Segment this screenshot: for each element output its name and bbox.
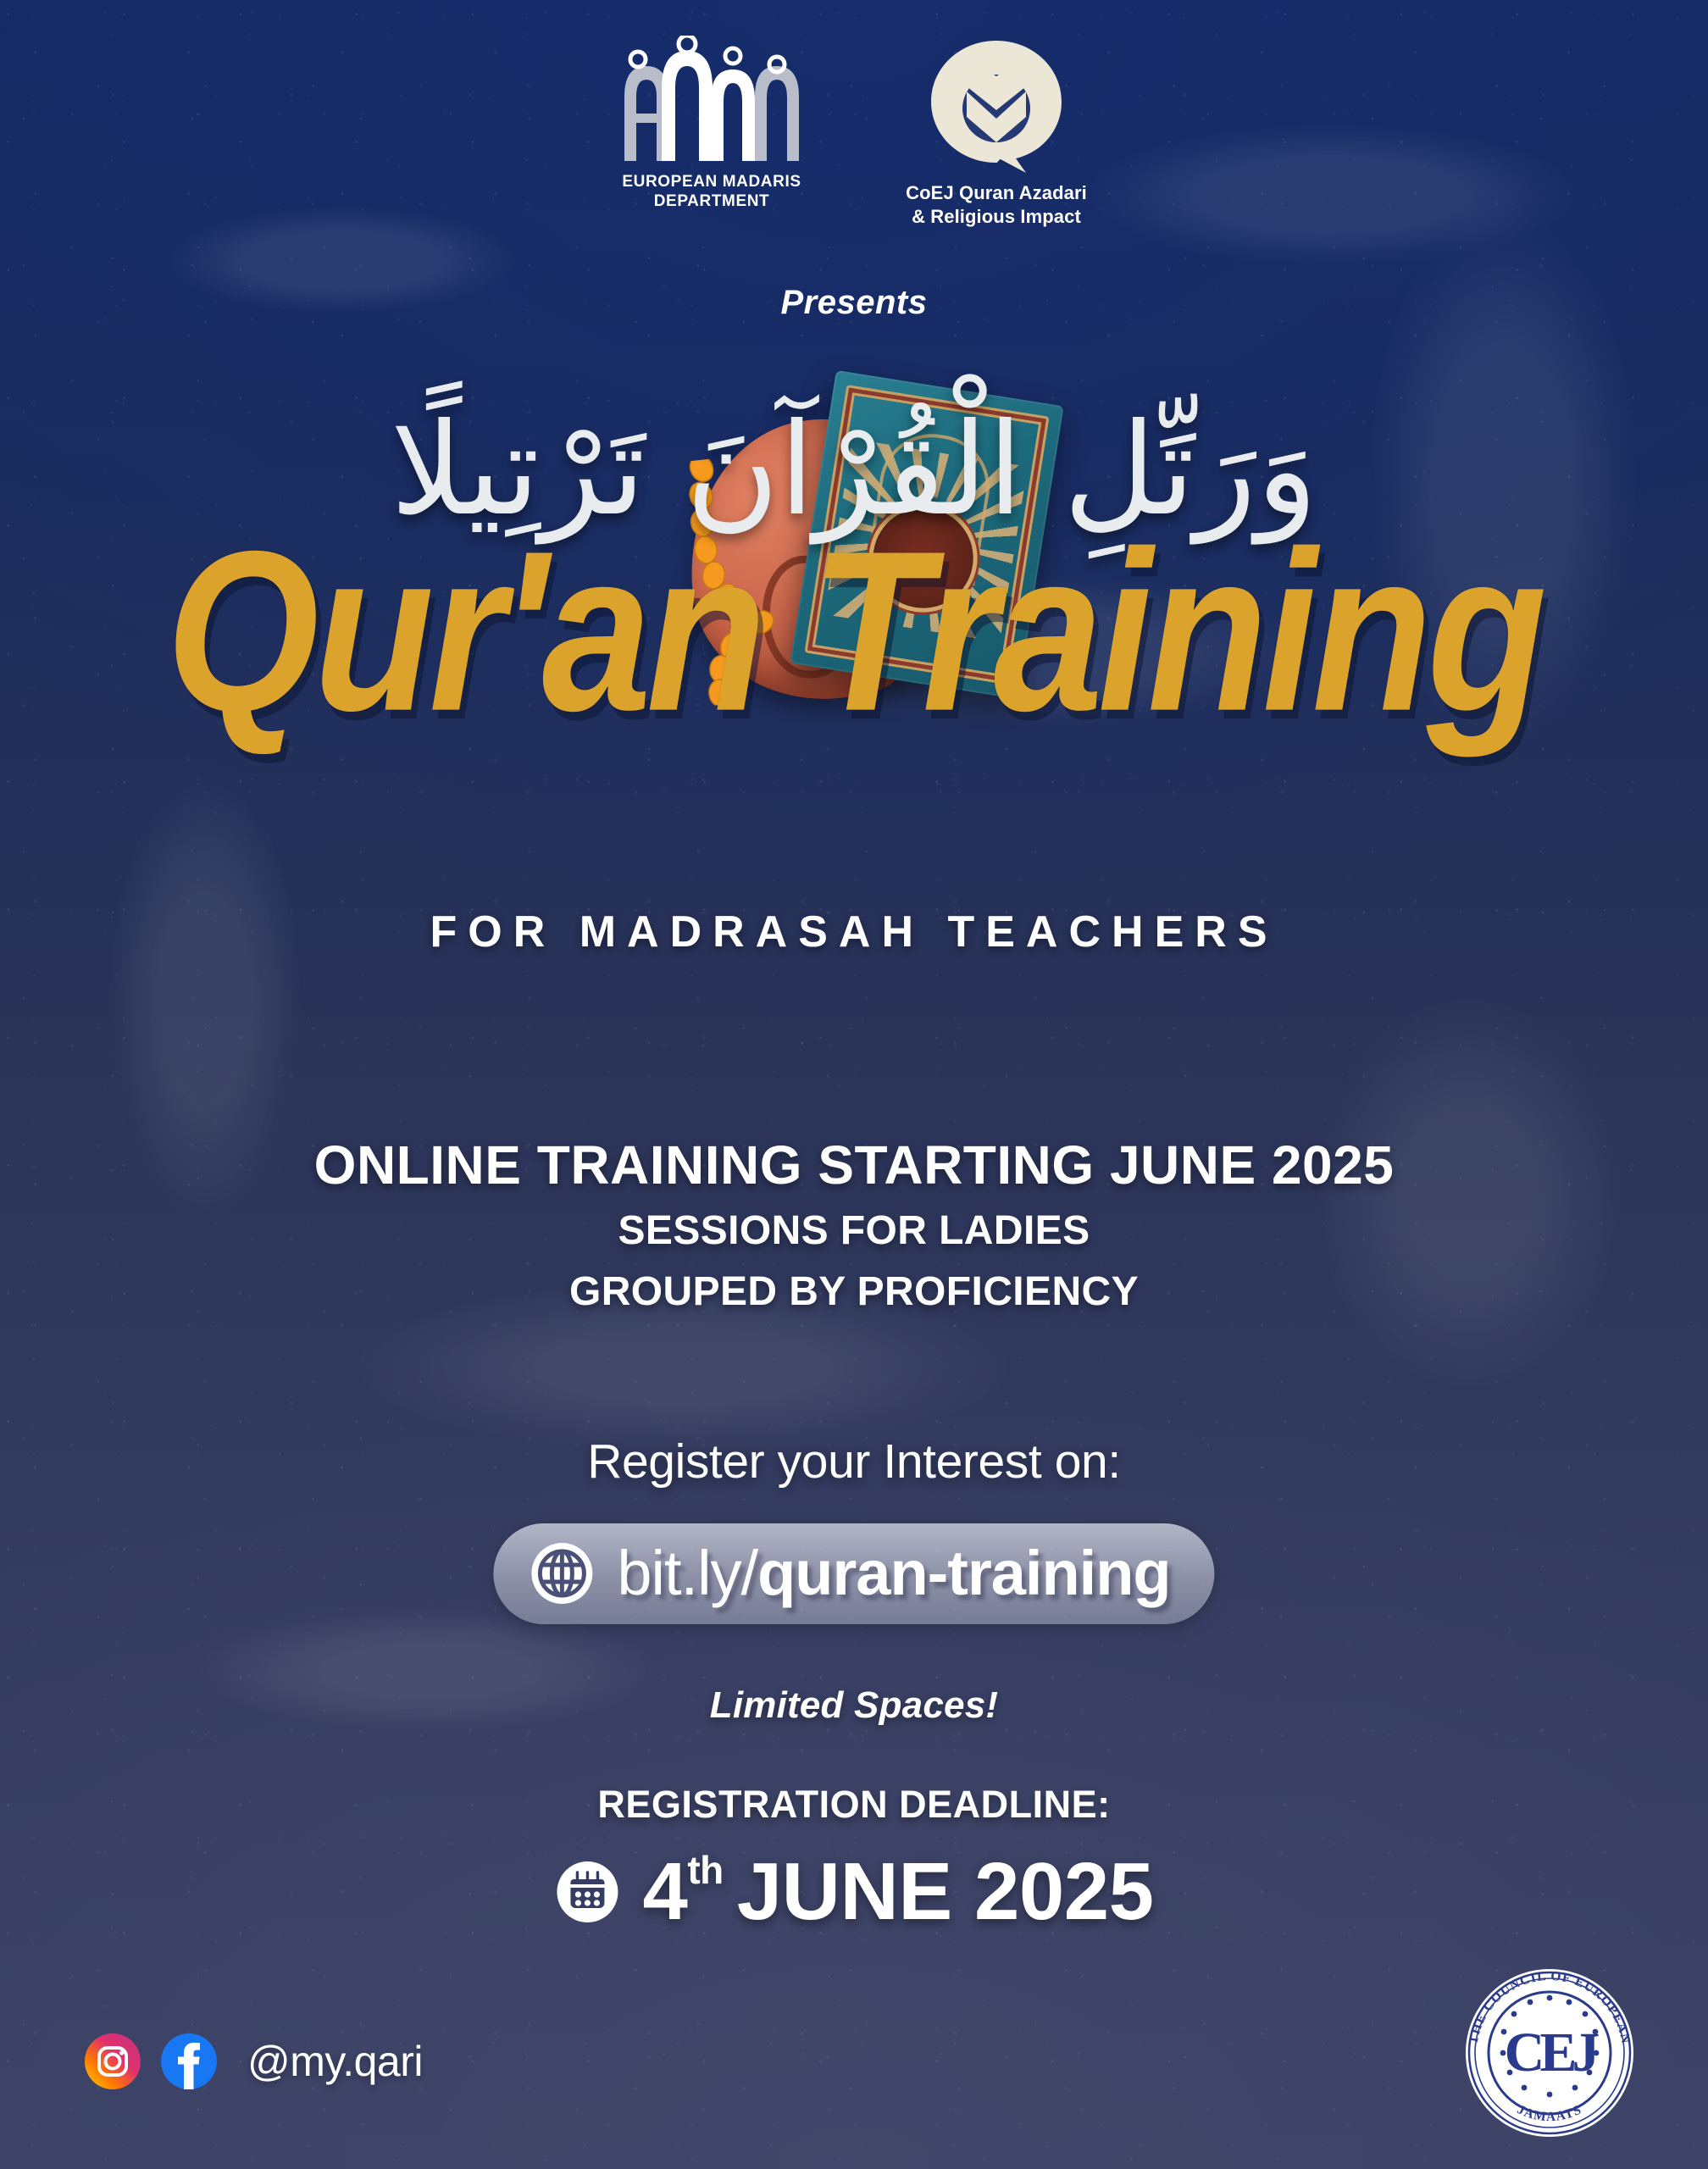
- calendar-icon: [554, 1859, 620, 1925]
- url-slug: quran-training: [757, 1538, 1171, 1608]
- open-book-speech-bubble-icon: [926, 36, 1067, 173]
- council-of-european-jamaats-seal: THE COUNCIL OF EUROPEAN JAMAATS CEJ: [1464, 1967, 1635, 2138]
- globe-icon: [529, 1540, 595, 1606]
- background-calligraphy-watermark: [0, 0, 1708, 2169]
- training-line-3: GROUPED BY PROFICIENCY: [0, 1266, 1708, 1318]
- deadline-date: 4thJUNE 2025: [642, 1845, 1153, 1939]
- emd-caption-line1: EUROPEAN MADARIS: [622, 172, 801, 191]
- deadline-ordinal: th: [687, 1850, 723, 1889]
- social-links[interactable]: @my.qari: [85, 2033, 423, 2089]
- url-prefix: bit.ly/: [617, 1538, 757, 1608]
- training-heading: ONLINE TRAINING STARTING JUNE 2025: [0, 1135, 1708, 1196]
- emd-caption-line2: DEPARTMENT: [622, 191, 801, 211]
- deadline-row: 4thJUNE 2025: [554, 1845, 1153, 1939]
- registration-url-text: bit.ly/quran-training: [617, 1537, 1170, 1609]
- hero-subtitle: FOR MADRASAH TEACHERS: [0, 907, 1708, 957]
- page-title: Qur'an Training: [166, 527, 1542, 737]
- training-info-block: ONLINE TRAINING STARTING JUNE 2025 SESSI…: [0, 1135, 1708, 1318]
- deadline-month-year: JUNE 2025: [737, 1845, 1154, 1939]
- training-line-2: SESSIONS FOR LADIES: [0, 1205, 1708, 1257]
- deadline-label: REGISTRATION DEADLINE:: [0, 1783, 1708, 1827]
- main-title-wrap: Qur'an Training: [0, 556, 1708, 736]
- background-grain-texture: [0, 0, 1708, 2169]
- seal-monogram: CEJ: [1505, 2022, 1600, 2083]
- limited-spaces-note: Limited Spaces!: [0, 1684, 1708, 1727]
- coej-logo-caption: CoEJ Quran Azadari & Religious Impact: [906, 181, 1087, 229]
- presents-label: Presents: [0, 284, 1708, 322]
- social-handle: @my.qari: [247, 2037, 423, 2086]
- instagram-icon[interactable]: [85, 2033, 141, 2089]
- deadline-day: 4: [642, 1845, 687, 1939]
- header-logos: EUROPEAN MADARIS DEPARTMENT CoEJ Quran A…: [0, 36, 1708, 229]
- facebook-icon[interactable]: [161, 2033, 217, 2089]
- logo-european-madaris-department: EUROPEAN MADARIS DEPARTMENT: [585, 36, 839, 211]
- emd-logo-caption: EUROPEAN MADARIS DEPARTMENT: [622, 172, 801, 211]
- logo-coej-quran-azadari: CoEJ Quran Azadari & Religious Impact: [869, 36, 1123, 229]
- poster-canvas: EUROPEAN MADARIS DEPARTMENT CoEJ Quran A…: [0, 0, 1708, 2169]
- hero-section: وَرَتِّلِ الْقُرْآنَ تَرْتِيلًا Qur'an T…: [0, 398, 1708, 991]
- registration-url-button[interactable]: bit.ly/quran-training: [493, 1523, 1214, 1624]
- coej-caption-line1: CoEJ Quran Azadari: [906, 181, 1087, 205]
- mosque-arches-icon: [606, 36, 818, 163]
- coej-caption-line2: & Religious Impact: [906, 205, 1087, 229]
- register-label: Register your Interest on:: [0, 1434, 1708, 1489]
